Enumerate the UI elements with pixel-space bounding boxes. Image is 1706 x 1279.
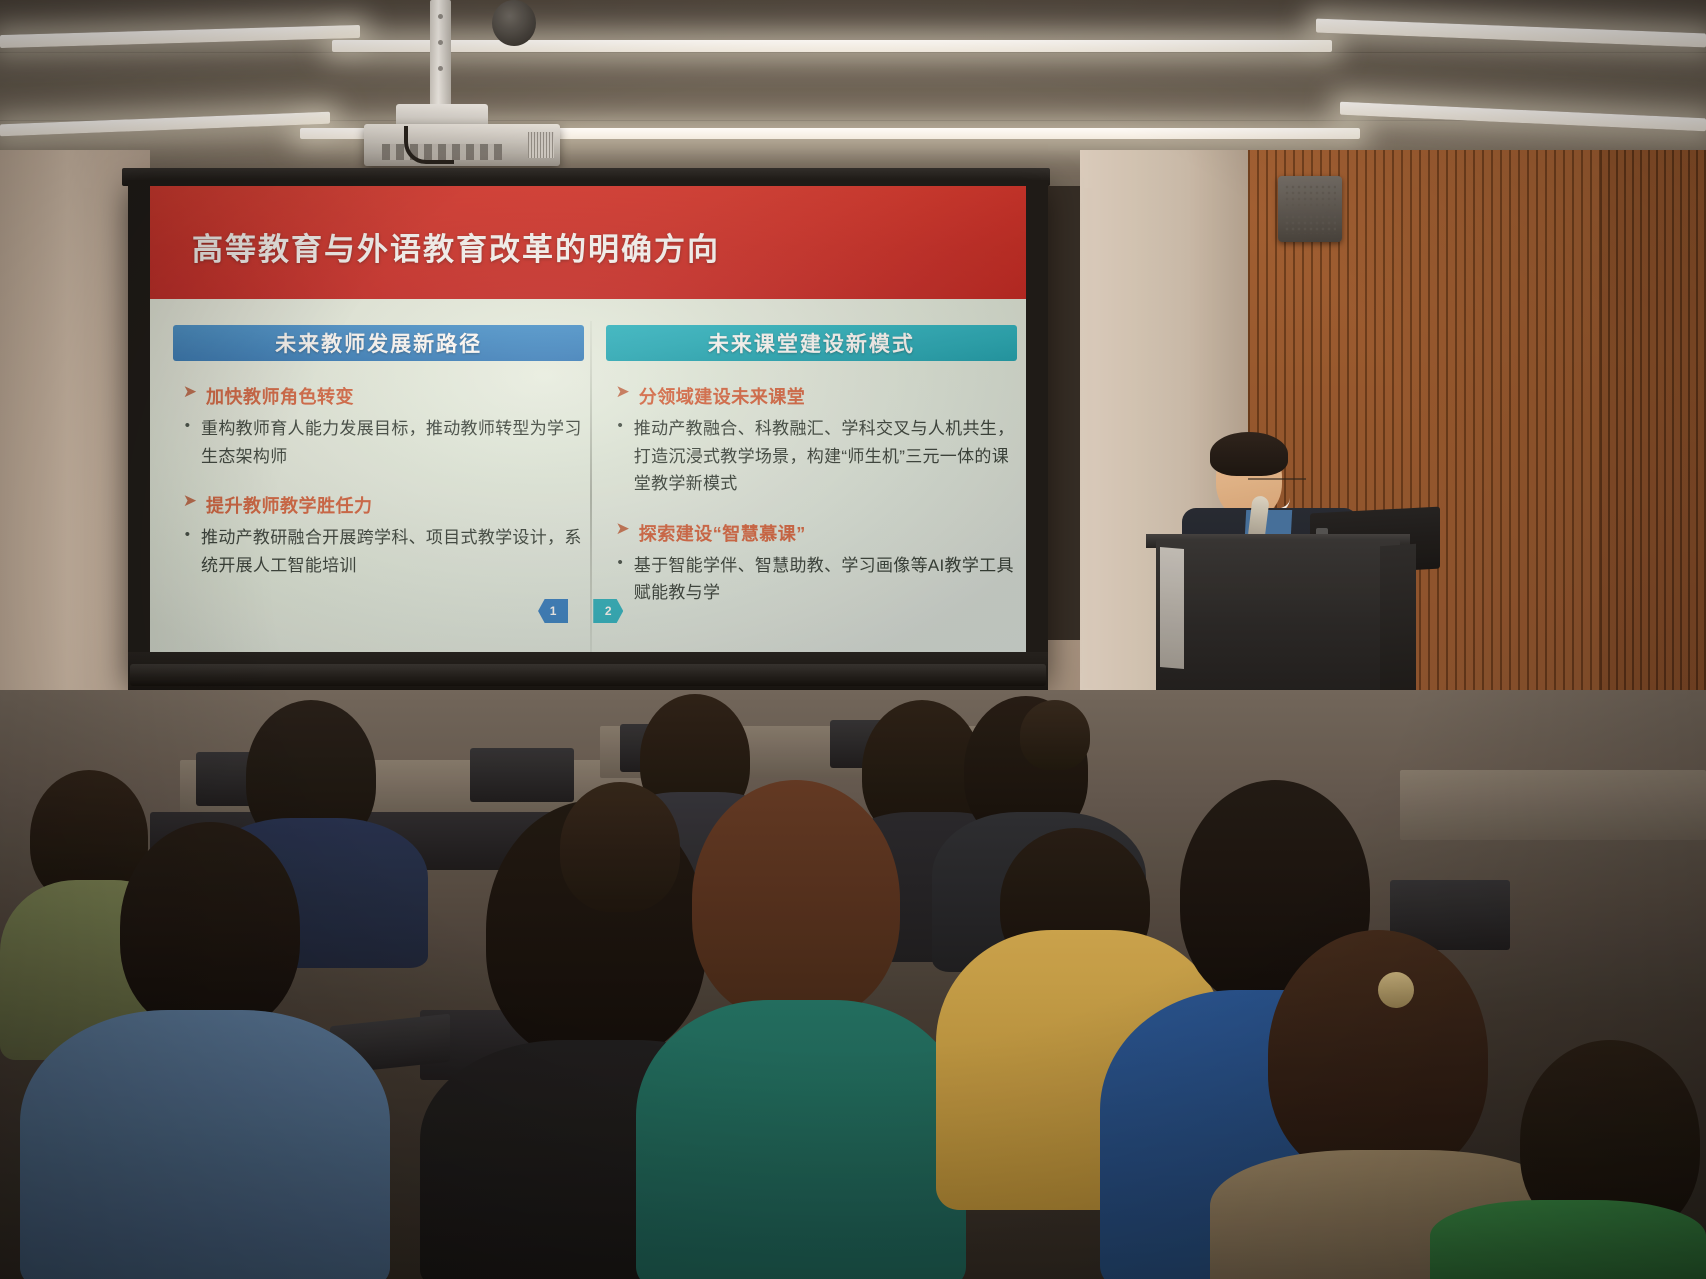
glasses-icon <box>1248 478 1306 491</box>
audience-head <box>120 822 300 1032</box>
slide-column-right: 未来课堂建设新模式 ➤ 分领域建设未来课堂 • 推动产教融合、科教融汇、学科交叉… <box>606 299 1018 609</box>
lecture-hall-photo: 高等教育与外语教育改革的明确方向 未来教师发展新路径 ➤ 加快教师角色转变 • … <box>0 0 1706 1279</box>
ceiling-seam <box>0 52 1706 53</box>
panel-title-teacher-path: 未来教师发展新路径 <box>173 325 585 361</box>
projector-icon <box>364 124 560 166</box>
dot-bullet-icon: • <box>618 415 623 438</box>
audience-head <box>692 780 900 1020</box>
panel-title-classroom-model: 未来课堂建设新模式 <box>606 325 1018 361</box>
screen-roller-bar <box>130 664 1046 686</box>
slide-body: 未来教师发展新路径 ➤ 加快教师角色转变 • 重构教师育人能力发展目标，推动教师… <box>150 299 1026 660</box>
arrow-bullet-icon: ➤ <box>183 492 197 511</box>
arrow-bullet-icon: ➤ <box>616 383 630 402</box>
audience-head <box>1020 700 1090 770</box>
sub-text: 重构教师育人能力发展目标，推动教师转型为学习生态架构师 <box>201 415 584 470</box>
sub-text: 推动产教融合、科教融汇、学科交叉与人机共生，打造沉浸式教学场景，构建“师生机”三… <box>634 415 1017 498</box>
lead-item: ➤ 探索建设“智慧慕课” <box>616 520 1018 546</box>
lead-text: 分领域建设未来课堂 <box>639 383 806 409</box>
presenter-hair <box>1210 432 1288 476</box>
wall-speaker-icon <box>1278 176 1342 242</box>
lead-text: 探索建设“智慧慕课” <box>639 520 806 546</box>
podium-papers <box>1160 547 1184 669</box>
monitor-icon <box>470 748 574 802</box>
hair-clip-icon <box>1378 972 1414 1008</box>
slide-title: 高等教育与外语教育改革的明确方向 <box>192 224 720 269</box>
sub-text: 基于智能学伴、智慧助教、学习画像等AI教学工具赋能教与学 <box>634 552 1017 607</box>
step-badge-1: 1 <box>538 599 568 623</box>
dot-bullet-icon: • <box>185 524 190 547</box>
audience-shoulders <box>636 1000 966 1279</box>
lead-item: ➤ 分领域建设未来课堂 <box>616 383 1018 409</box>
column-divider <box>590 321 592 660</box>
lead-text: 提升教师教学胜任力 <box>206 492 373 518</box>
projector-vent <box>528 132 554 158</box>
presentation-slide: 高等教育与外语教育改革的明确方向 未来教师发展新路径 ➤ 加快教师角色转变 • … <box>150 186 1026 660</box>
sub-item: • 重构教师育人能力发展目标，推动教师转型为学习生态架构师 <box>185 415 585 470</box>
ceiling-light-strip <box>1316 19 1706 48</box>
desk-row <box>1400 770 1706 840</box>
ceiling-light-strip <box>332 40 1332 52</box>
projector-mount-rod <box>430 0 451 112</box>
audience-head <box>1268 930 1488 1180</box>
audience-shoulders <box>20 1010 390 1279</box>
lead-item: ➤ 提升教师教学胜任力 <box>183 492 585 518</box>
arrow-bullet-icon: ➤ <box>183 383 197 402</box>
audience-head <box>560 782 680 912</box>
sub-text: 推动产教研融合开展跨学科、项目式教学设计，系统开展人工智能培训 <box>201 524 584 579</box>
lead-item: ➤ 加快教师角色转变 <box>183 383 585 409</box>
ceiling-light-strip <box>0 25 360 48</box>
lead-text: 加快教师角色转变 <box>206 383 354 409</box>
dot-bullet-icon: • <box>185 415 190 438</box>
slide-column-left: 未来教师发展新路径 ➤ 加快教师角色转变 • 重构教师育人能力发展目标，推动教师… <box>173 299 585 581</box>
sub-item: • 推动产教融合、科教融汇、学科交叉与人机共生，打造沉浸式教学场景，构建“师生机… <box>618 415 1018 498</box>
sub-item: • 推动产教研融合开展跨学科、项目式教学设计，系统开展人工智能培训 <box>185 524 585 579</box>
dot-bullet-icon: • <box>618 552 623 575</box>
projector-cable <box>404 126 454 164</box>
ceiling-lamp-icon <box>492 0 536 46</box>
sub-item: • 基于智能学伴、智慧助教、学习画像等AI教学工具赋能教与学 <box>618 552 1018 607</box>
audience-shoulders <box>1430 1200 1706 1279</box>
projection-screen: 高等教育与外语教育改革的明确方向 未来教师发展新路径 ➤ 加快教师角色转变 • … <box>150 186 1026 660</box>
arrow-bullet-icon: ➤ <box>616 520 630 539</box>
